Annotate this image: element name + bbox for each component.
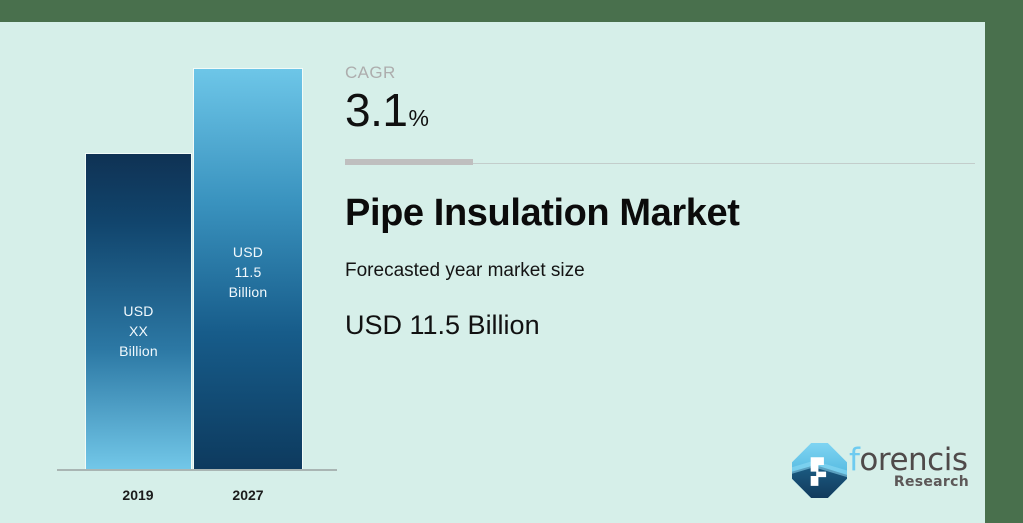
right-green-band [985,0,1023,523]
bar-2027-label-line2: 11.5 [229,262,268,282]
brand-wordmark: forencis Research [849,444,969,490]
brand-logo: forencis Research [792,440,967,502]
market-size-value: USD 11.5 Billion [345,308,975,342]
brand-name-rest: orencis [859,442,967,478]
cagr-percent-sign: % [408,105,428,131]
x-axis-tick-2027: 2027 [193,487,303,503]
bar-2027-label: USD 11.5 Billion [229,242,268,302]
bar-2019-label: USD XX Billion [119,301,158,361]
forecast-subtitle: Forecasted year market size [345,258,975,284]
section-divider [345,159,975,165]
cagr-value: 3.1% [345,85,975,147]
bar-chart: USD XX Billion USD 11.5 Billion 2019 202… [0,22,340,523]
top-green-band [0,0,1023,22]
infographic-card: USD XX Billion USD 11.5 Billion 2019 202… [0,0,1023,523]
brand-name-initial: f [849,442,859,478]
bar-2027: USD 11.5 Billion [193,68,303,470]
bar-2019-label-line3: Billion [119,341,158,361]
bar-2019-label-line2: XX [119,321,158,341]
divider-accent-rule [345,159,473,165]
cagr-number: 3.1 [345,84,407,136]
bar-2019-label-line1: USD [119,301,158,321]
cagr-caption: CAGR [345,62,975,84]
report-summary-panel: CAGR 3.1% Pipe Insulation Market Forecas… [345,62,975,342]
x-axis-tick-2019: 2019 [83,487,193,503]
bar-2019: USD XX Billion [85,153,192,470]
x-axis-line [57,469,337,471]
brand-name: forencis [849,444,969,477]
forencis-diamond-icon [792,443,847,498]
page-title: Pipe Insulation Market [345,190,975,236]
bar-2027-label-line3: Billion [229,282,268,302]
bar-2027-label-line1: USD [229,242,268,262]
